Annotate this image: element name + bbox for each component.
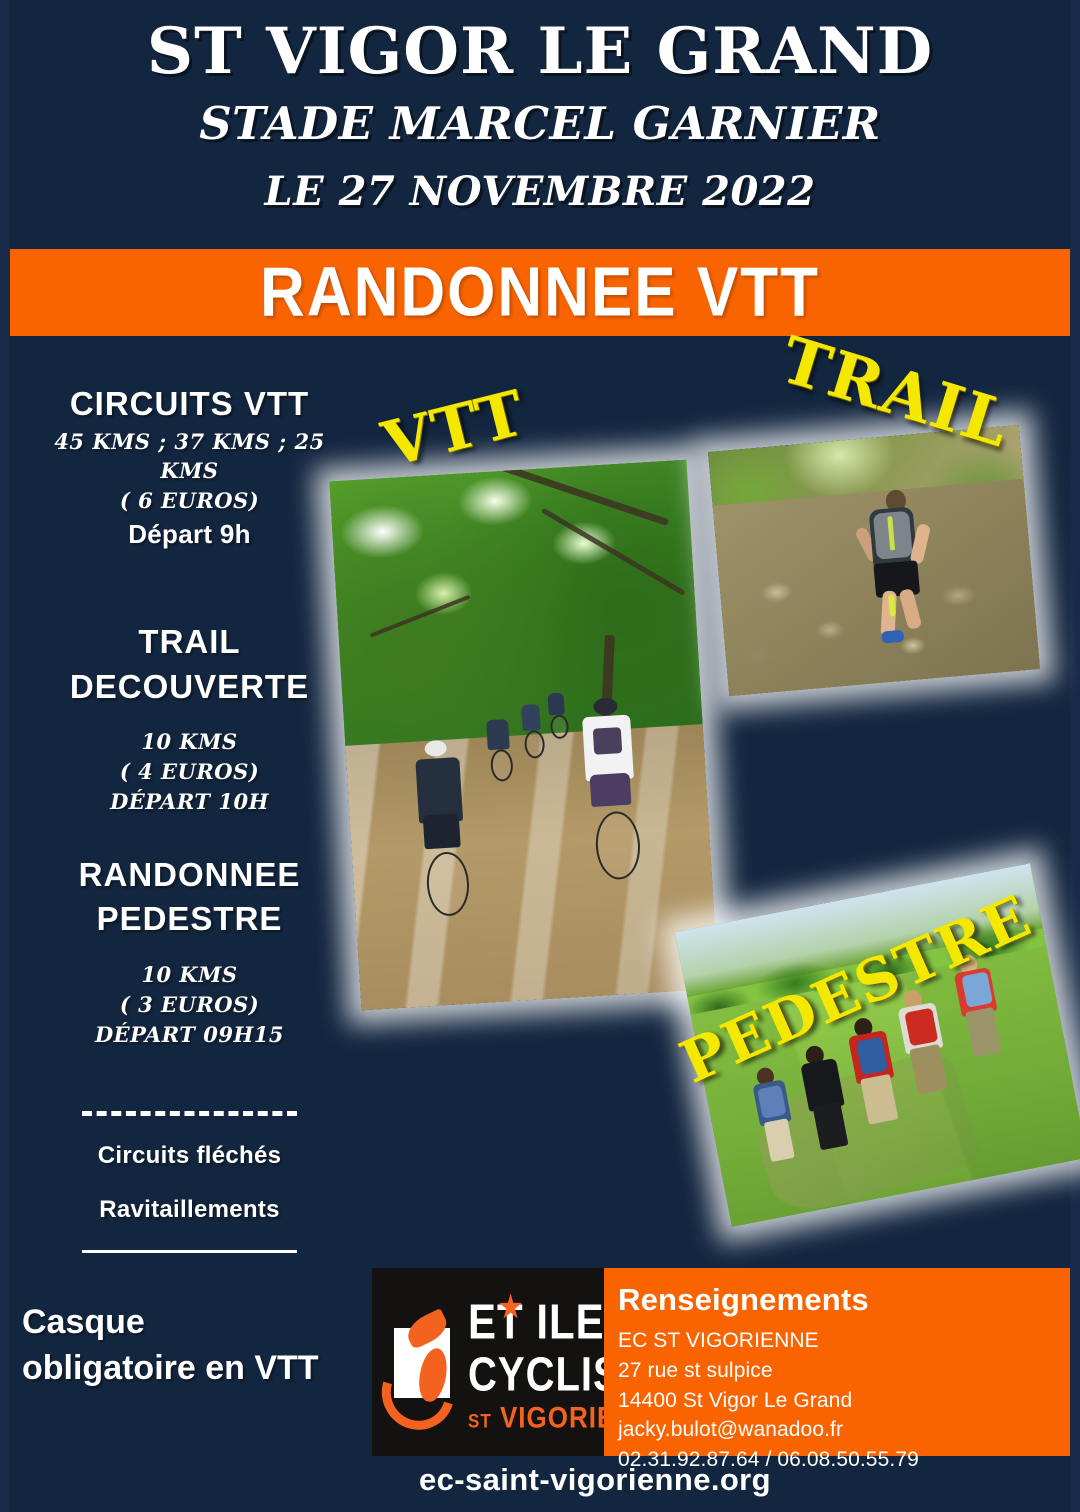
activity-start-time: DÉPART 09H15: [22, 1020, 357, 1050]
bike-wheel: [425, 851, 471, 917]
runner-right-leg: [899, 588, 923, 630]
club-logo-line3: ST VIGORIENNE: [468, 1402, 604, 1432]
spacer: [22, 942, 357, 960]
bike-helmet: [424, 740, 447, 757]
club-logo-line1: ET ILE ★: [468, 1297, 604, 1347]
photo-vtt-mountain-bikers: [329, 460, 719, 1011]
helmet-notice-line2: obligatoire en VTT: [22, 1346, 372, 1392]
photo-label-vtt: VTT: [375, 376, 533, 482]
divider-dashed-top: [82, 1111, 297, 1116]
logo-orange-swoosh: [372, 1343, 467, 1442]
contact-title: Renseignements: [618, 1282, 1070, 1318]
spacer: [22, 823, 357, 853]
club-logo-line3-text: VIGORIENNE: [500, 1399, 604, 1434]
activity-price: ( 4 EUROS): [22, 757, 357, 787]
cyclist-torso: [548, 692, 565, 715]
contact-club-name: EC ST VIGORIENNE: [618, 1326, 1070, 1356]
activity-price: ( 3 EUROS): [22, 990, 357, 1020]
contact-city: 14400 St Vigor Le Grand: [618, 1386, 1070, 1416]
club-logo-line3-prefix: ST: [468, 1410, 492, 1432]
spacer: [22, 709, 357, 727]
hydration-pack: [592, 727, 622, 755]
spacer: [22, 1055, 357, 1111]
activities-list: CIRCUITS VTT 45 KMS ; 37 KMS ; 25 KMS ( …: [22, 382, 357, 1253]
activity-price: ( 6 EUROS): [22, 486, 357, 516]
website-url[interactable]: ec-saint-vigorienne.org: [0, 1462, 1080, 1498]
trail-runner-figure: [849, 486, 949, 653]
event-type-banner: RANDONNEE VTT: [10, 249, 1070, 336]
activity-start-time: Départ 9h: [22, 516, 357, 552]
divider-solid-bottom: [82, 1250, 297, 1253]
event-date: LE 27 NOVEMBRE 2022: [0, 150, 1080, 215]
photo-trail-runner: [708, 425, 1040, 696]
cyclist-distant-1: [480, 714, 518, 786]
cyclist-foreground-left: [402, 738, 485, 932]
event-venue: STADE MARCEL GARNIER: [0, 85, 1080, 150]
activity-distances: 10 KMS: [22, 960, 357, 990]
club-logo-text: ET ILE ★ CYCLISTE ST VIGORIENNE: [468, 1297, 604, 1428]
hiker-legs: [860, 1074, 898, 1125]
dirt-trail: [345, 724, 719, 1010]
activity-circuits-vtt: CIRCUITS VTT 45 KMS ; 37 KMS ; 25 KMS ( …: [22, 382, 357, 552]
cyclist-shorts: [423, 813, 461, 849]
hiker-legs: [965, 1007, 1001, 1057]
helmet-notice: Casque obligatoire en VTT: [22, 1300, 372, 1392]
cyclist-foreground-right: [569, 696, 659, 900]
bike-wheel: [550, 714, 569, 739]
bike-helmet: [592, 697, 617, 715]
hiker-legs: [910, 1044, 948, 1095]
activity-start-time: DÉPART 10H: [22, 787, 357, 817]
contact-info-block: Renseignements EC ST VIGORIENNE 27 rue s…: [604, 1268, 1070, 1456]
contact-email[interactable]: jacky.bulot@wanadoo.fr: [618, 1415, 1070, 1445]
club-logo: ET ILE ★ CYCLISTE ST VIGORIENNE: [372, 1268, 604, 1456]
activity-heading-line1: TRAIL: [22, 620, 357, 665]
hiker-legs: [813, 1102, 849, 1151]
activity-heading-line1: RANDONNEE: [22, 853, 357, 898]
club-logo-line2: CYCLISTE: [468, 1351, 604, 1399]
bike-wheel: [490, 749, 514, 782]
activity-distances: 10 KMS: [22, 727, 357, 757]
note-marked-circuits: Circuits fléchés: [22, 1142, 357, 1170]
cyclist-distant-3: [543, 690, 572, 745]
activity-heading-line2: PEDESTRE: [22, 897, 357, 942]
cyclist-torso: [486, 719, 510, 750]
club-logo-line1-text: ET ILE: [468, 1293, 604, 1348]
poster-header: ST VIGOR LE GRAND STADE MARCEL GARNIER L…: [0, 0, 1080, 247]
hiker-legs: [764, 1118, 795, 1162]
activity-heading: CIRCUITS VTT: [22, 382, 357, 427]
activity-trail-decouverte: TRAIL DECOUVERTE 10 KMS ( 4 EUROS) DÉPAR…: [22, 620, 357, 817]
helmet-notice-line1: Casque: [22, 1300, 372, 1346]
cyclist-logo-icon: [386, 1312, 460, 1412]
bike-wheel: [593, 810, 641, 881]
event-type-label: RANDONNEE VTT: [260, 253, 820, 333]
event-poster: ST VIGOR LE GRAND STADE MARCEL GARNIER L…: [0, 0, 1080, 1512]
bike-wheel: [524, 730, 546, 759]
activity-randonnee-pedestre: RANDONNEE PEDESTRE 10 KMS ( 3 EUROS) DÉP…: [22, 853, 357, 1050]
contact-street: 27 rue st sulpice: [618, 1356, 1070, 1386]
event-town-title: ST VIGOR LE GRAND: [0, 0, 1080, 85]
spacer: [22, 558, 357, 620]
cyclist-shorts: [589, 773, 631, 807]
note-refreshments: Ravitaillements: [22, 1196, 357, 1224]
activity-distances: 45 KMS ; 37 KMS ; 25 KMS: [22, 427, 357, 487]
runner-shoe: [881, 630, 904, 644]
activity-heading-line2: DECOUVERTE: [22, 665, 357, 710]
cyclist-torso: [521, 704, 541, 731]
